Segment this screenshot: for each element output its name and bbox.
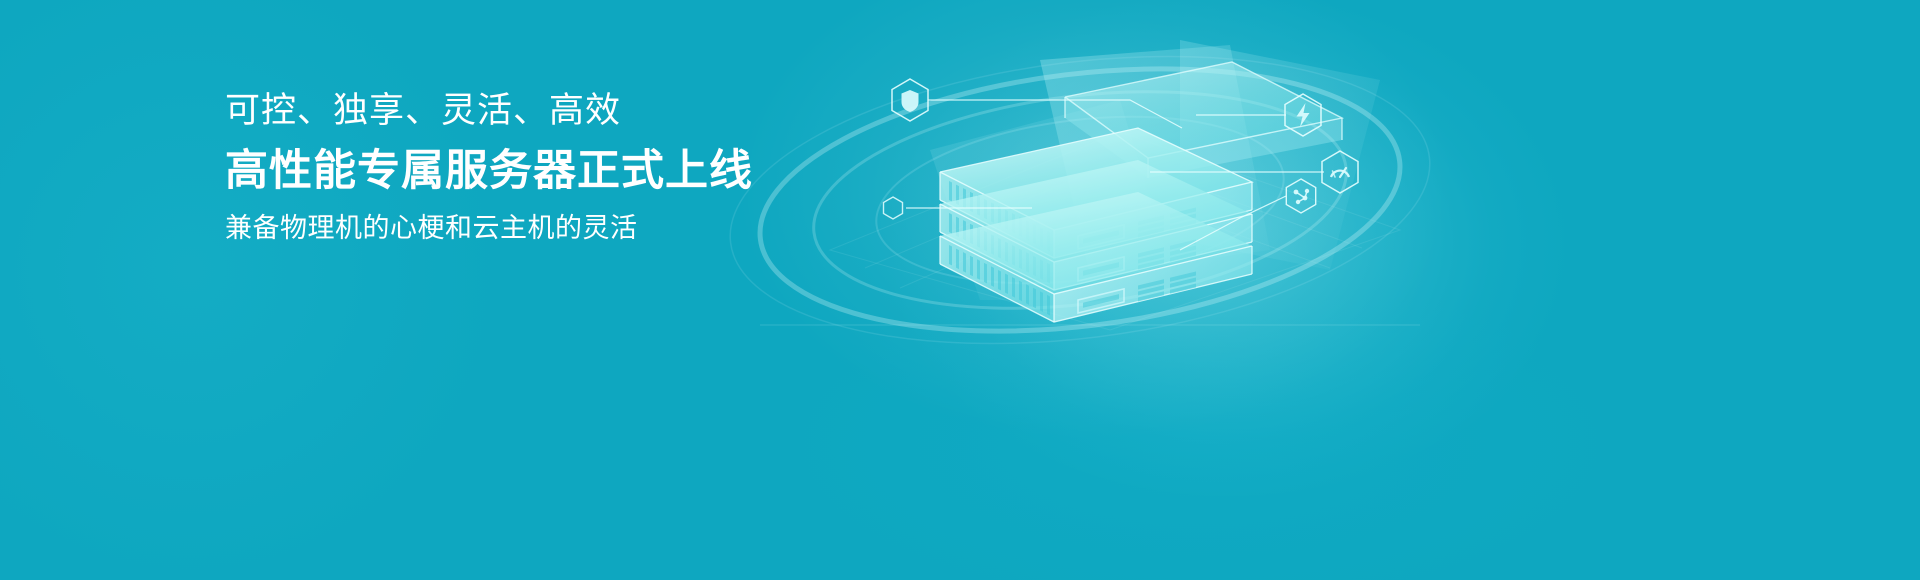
banner-eyebrow: 可控、独享、灵活、高效 [225, 86, 753, 136]
banner-subline: 兼备物理机的心梗和云主机的灵活 [225, 208, 753, 248]
banner-text-block: 可控、独享、灵活、高效 高性能专属服务器正式上线 兼备物理机的心梗和云主机的灵活 [225, 86, 753, 248]
promo-banner: 可控、独享、灵活、高效 高性能专属服务器正式上线 兼备物理机的心梗和云主机的灵活 [0, 0, 1920, 580]
banner-headline: 高性能专属服务器正式上线 [225, 140, 753, 202]
